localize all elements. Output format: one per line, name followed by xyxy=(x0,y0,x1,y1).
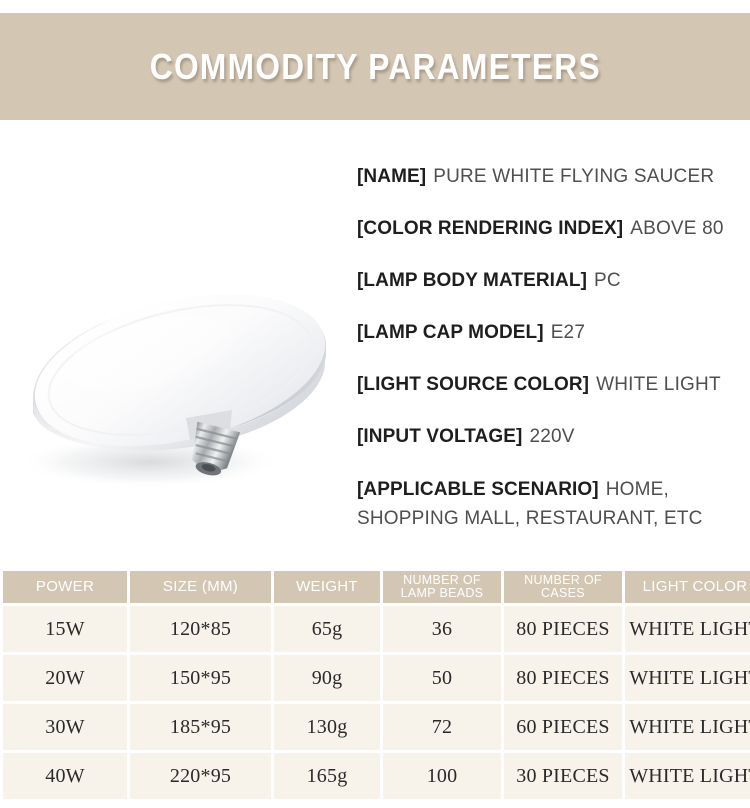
cell-color: WHITE LIGHT xyxy=(625,655,750,701)
spec-key: [APPLICABLE SCENARIO] xyxy=(357,479,599,500)
table-header-size: SIZE (MM) xyxy=(130,571,271,603)
table-header-power: POWER xyxy=(3,571,127,603)
spec-row-applicable-scenario: [APPLICABLE SCENARIO]HOME, SHOPPING MALL… xyxy=(357,475,750,527)
cell-beads: 72 xyxy=(383,704,501,750)
spec-key: [NAME] xyxy=(357,166,426,187)
spec-value: PURE WHITE FLYING SAUCER xyxy=(426,166,714,187)
table-row: 30W 185*95 130g 72 60 PIECES WHITE LIGHT xyxy=(3,704,750,750)
cell-color: WHITE LIGHT xyxy=(625,606,750,652)
cell-size: 120*85 xyxy=(130,606,271,652)
cell-color: WHITE LIGHT xyxy=(625,704,750,750)
spec-row-lamp-cap-model: [LAMP CAP MODEL]E27 xyxy=(357,319,750,371)
table-header-weight: WEIGHT xyxy=(274,571,380,603)
cell-power: 30W xyxy=(3,704,127,750)
spec-key: [COLOR RENDERING INDEX] xyxy=(357,218,623,239)
specification-list: [NAME]PURE WHITE FLYING SAUCER [COLOR RE… xyxy=(357,163,750,527)
product-image-area xyxy=(0,140,350,560)
table-header-cases: NUMBER OF CASES xyxy=(504,571,622,603)
page-banner: COMMODITY PARAMETERS xyxy=(0,13,750,120)
cell-cases: 60 PIECES xyxy=(504,704,622,750)
spec-row-lamp-body-material: [LAMP BODY MATERIAL]PC xyxy=(357,267,750,319)
cell-color: WHITE LIGHT xyxy=(625,753,750,799)
cell-cases: 80 PIECES xyxy=(504,655,622,701)
cell-power: 40W xyxy=(3,753,127,799)
spec-value: 220V xyxy=(522,426,574,447)
cell-size: 185*95 xyxy=(130,704,271,750)
spec-key: [INPUT VOLTAGE] xyxy=(357,426,522,447)
spec-value: WHITE LIGHT xyxy=(589,374,721,395)
table-row: 15W 120*85 65g 36 80 PIECES WHITE LIGHT xyxy=(3,606,750,652)
table-row: 20W 150*95 90g 50 80 PIECES WHITE LIGHT xyxy=(3,655,750,701)
spec-row-color-rendering-index: [COLOR RENDERING INDEX]ABOVE 80 xyxy=(357,215,750,267)
spec-key: [LIGHT SOURCE COLOR] xyxy=(357,374,589,395)
cell-beads: 100 xyxy=(383,753,501,799)
spec-row-input-voltage: [INPUT VOLTAGE]220V xyxy=(357,423,750,475)
page-title: COMMODITY PARAMETERS xyxy=(149,46,600,88)
spec-row-name: [NAME]PURE WHITE FLYING SAUCER xyxy=(357,163,750,215)
cell-beads: 36 xyxy=(383,606,501,652)
flying-saucer-led-lamp-icon xyxy=(0,250,350,510)
cell-weight: 165g xyxy=(274,753,380,799)
cell-power: 20W xyxy=(3,655,127,701)
parameters-table: POWER SIZE (MM) WEIGHT NUMBER OF LAMP BE… xyxy=(0,568,750,802)
table-header-row: POWER SIZE (MM) WEIGHT NUMBER OF LAMP BE… xyxy=(3,571,750,603)
cell-size: 220*95 xyxy=(130,753,271,799)
spec-value: E27 xyxy=(544,322,585,343)
cell-power: 15W xyxy=(3,606,127,652)
cell-weight: 65g xyxy=(274,606,380,652)
cell-cases: 30 PIECES xyxy=(504,753,622,799)
cell-cases: 80 PIECES xyxy=(504,606,622,652)
spec-key: [LAMP CAP MODEL] xyxy=(357,322,544,343)
cell-weight: 90g xyxy=(274,655,380,701)
spec-value: PC xyxy=(587,270,621,291)
cell-beads: 50 xyxy=(383,655,501,701)
table-header-light-color: LIGHT COLOR xyxy=(625,571,750,603)
cell-weight: 130g xyxy=(274,704,380,750)
spec-row-light-source-color: [LIGHT SOURCE COLOR]WHITE LIGHT xyxy=(357,371,750,423)
cell-size: 150*95 xyxy=(130,655,271,701)
spec-value: ABOVE 80 xyxy=(623,218,723,239)
table-row: 40W 220*95 165g 100 30 PIECES WHITE LIGH… xyxy=(3,753,750,799)
spec-key: [LAMP BODY MATERIAL] xyxy=(357,270,587,291)
table-header-lamp-beads: NUMBER OF LAMP BEADS xyxy=(383,571,501,603)
